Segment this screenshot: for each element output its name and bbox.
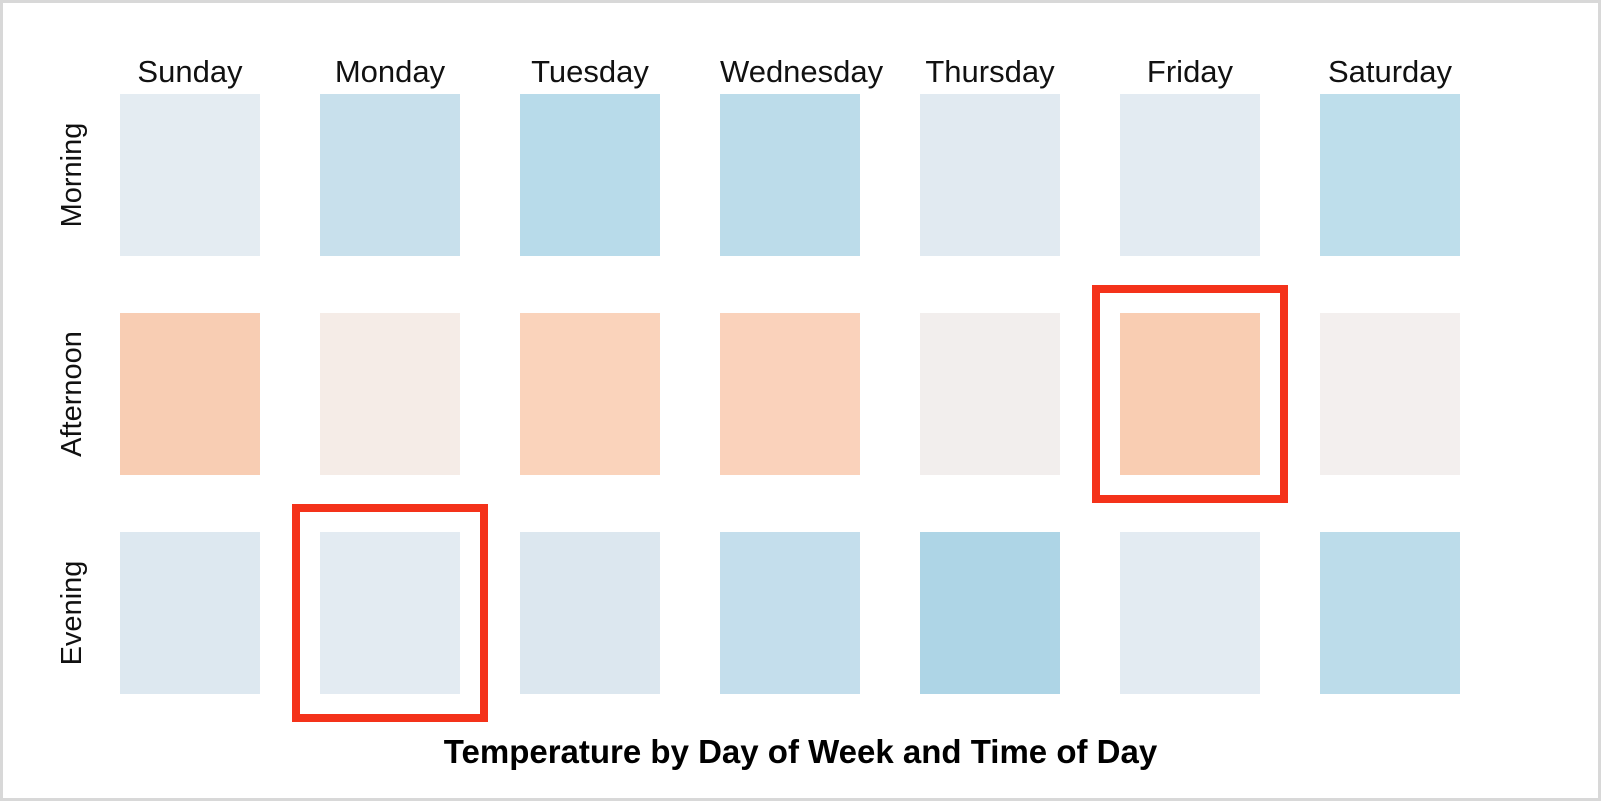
chart-title: Temperature by Day of Week and Time of D…	[0, 733, 1601, 771]
column-header-thursday: Thursday	[920, 54, 1060, 90]
heatmap-cell-thursday-afternoon[interactable]	[920, 313, 1060, 475]
heatmap-cell-sunday-evening[interactable]	[120, 532, 260, 694]
heatmap-cell-monday-afternoon[interactable]	[320, 313, 460, 475]
column-header-tuesday: Tuesday	[520, 54, 660, 90]
heatmap-cell-sunday-afternoon[interactable]	[120, 313, 260, 475]
heatmap-cell-tuesday-afternoon[interactable]	[520, 313, 660, 475]
heatmap-cell-wednesday-evening[interactable]	[720, 532, 860, 694]
heatmap-cell-saturday-afternoon[interactable]	[1320, 313, 1460, 475]
heatmap-cell-saturday-morning[interactable]	[1320, 94, 1460, 256]
column-header-sunday: Sunday	[120, 54, 260, 90]
heatmap-cell-friday-evening[interactable]	[1120, 532, 1260, 694]
row-label-morning: Morning	[54, 94, 90, 256]
heatmap-cell-tuesday-evening[interactable]	[520, 532, 660, 694]
heatmap-cell-sunday-morning[interactable]	[120, 94, 260, 256]
heatmap-cell-monday-morning[interactable]	[320, 94, 460, 256]
column-header-friday: Friday	[1120, 54, 1260, 90]
heatmap-cell-thursday-morning[interactable]	[920, 94, 1060, 256]
column-header-saturday: Saturday	[1320, 54, 1460, 90]
canvas-left-edge	[0, 0, 3, 801]
heatmap-cell-saturday-evening[interactable]	[1320, 532, 1460, 694]
heatmap-cell-wednesday-afternoon[interactable]	[720, 313, 860, 475]
column-header-wednesday: Wednesday	[720, 54, 860, 90]
row-label-afternoon: Afternoon	[54, 313, 90, 475]
heatmap-cell-monday-evening[interactable]	[320, 532, 460, 694]
heatmap-cell-friday-morning[interactable]	[1120, 94, 1260, 256]
heatmap-cell-wednesday-morning[interactable]	[720, 94, 860, 256]
column-header-monday: Monday	[320, 54, 460, 90]
row-label-evening: Evening	[54, 532, 90, 694]
heatmap-cell-friday-afternoon[interactable]	[1120, 313, 1260, 475]
canvas-top-edge	[0, 0, 1601, 3]
chart-canvas: SundayMondayTuesdayWednesdayThursdayFrid…	[0, 0, 1601, 801]
heatmap-cell-tuesday-morning[interactable]	[520, 94, 660, 256]
heatmap-cell-thursday-evening[interactable]	[920, 532, 1060, 694]
